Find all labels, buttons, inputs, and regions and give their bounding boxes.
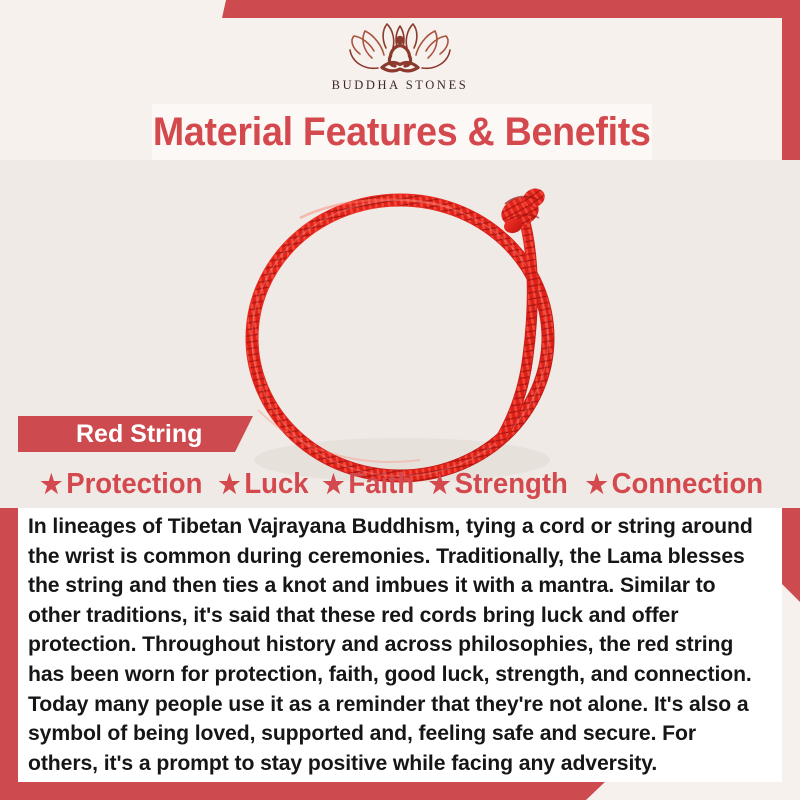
benefit-label: Faith <box>348 468 414 501</box>
benefits-row: ★ Protection ★ Luck ★ Faith ★ Strength ★… <box>24 466 780 502</box>
benefit-item-connection: ★ Connection <box>586 468 763 501</box>
benefit-label: Connection <box>612 468 764 501</box>
benefit-label: Strength <box>455 468 568 501</box>
benefit-item-faith: ★ Faith <box>322 468 414 501</box>
benefit-label: Luck <box>244 468 308 501</box>
product-photo <box>0 160 800 508</box>
decorative-band-top <box>222 0 800 18</box>
star-icon: ★ <box>429 471 451 497</box>
star-icon: ★ <box>586 471 608 497</box>
product-label-ribbon: Red String <box>18 416 253 452</box>
benefit-item-luck: ★ Luck <box>218 468 308 501</box>
brand-name: BUDDHA STONES <box>332 78 469 93</box>
star-icon: ★ <box>218 471 240 497</box>
lotus-meditation-icon <box>342 18 458 76</box>
infographic-page: BUDDHA STONES Material Features & Benefi… <box>0 0 800 800</box>
red-string-bracelet-illustration <box>0 160 800 508</box>
page-title: Material Features & Benefits <box>153 110 651 155</box>
decorative-band-bottom <box>0 781 606 800</box>
star-icon: ★ <box>40 471 62 497</box>
brand-logo: BUDDHA STONES <box>0 18 800 100</box>
benefit-item-protection: ★ Protection <box>40 468 202 501</box>
title-banner: Material Features & Benefits <box>152 104 652 160</box>
benefit-item-strength: ★ Strength <box>429 468 568 501</box>
description-paragraph: In lineages of Tibetan Vajrayana Buddhis… <box>28 512 766 778</box>
benefit-label: Protection <box>66 468 202 501</box>
product-label-text: Red String <box>18 420 202 449</box>
star-icon: ★ <box>322 471 344 497</box>
description-panel: In lineages of Tibetan Vajrayana Buddhis… <box>18 508 782 782</box>
